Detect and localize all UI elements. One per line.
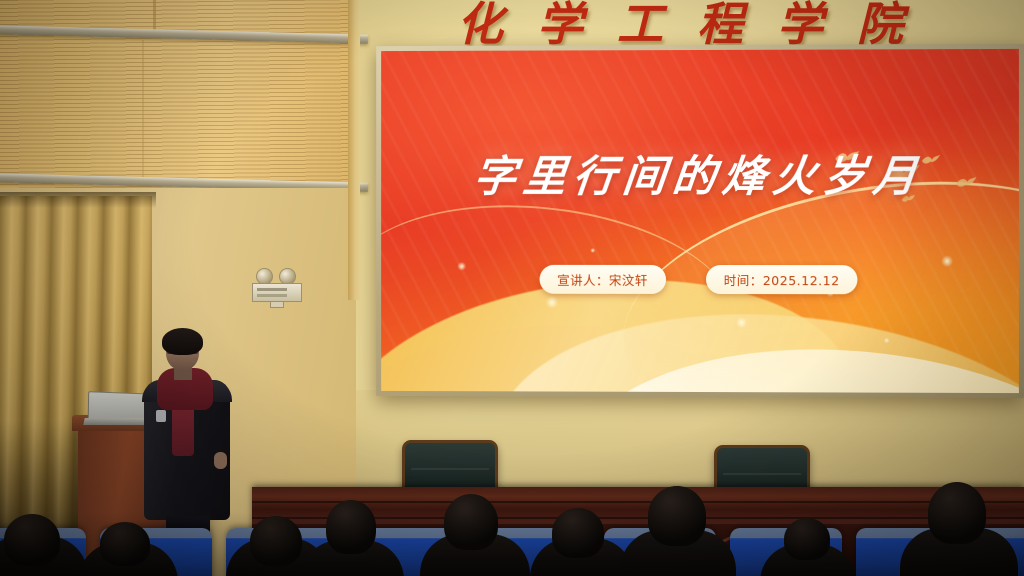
emergency-light-icon [252,268,304,302]
audience-head [444,494,498,550]
audience-head [326,500,376,554]
audience-head [784,518,830,560]
wall-corner-edge [348,0,360,300]
slide-badges: 宣讲人：宋汶轩 时间：2025.12.12 [381,265,1019,295]
audience-head [648,486,706,546]
glasses-icon [167,348,198,354]
slide-title: 字里行间的烽火岁月 [381,142,1019,205]
time-badge: 时间：2025.12.12 [706,265,858,294]
curtain-top-shadow [0,192,156,208]
lecture-hall-scene: 化学工程学院 [0,0,1024,576]
presenter-lapel-badge [156,410,166,422]
spark-particle [736,317,747,328]
emergency-light-body [252,283,302,302]
audience-head [100,522,150,566]
audience-head [552,508,604,558]
spark-particle [545,296,558,309]
audience-head [250,516,302,566]
front-audience-row [0,486,1024,576]
led-screen[interactable]: 字里行间的烽火岁月 宣讲人：宋汶轩 时间：2025.12.12 [381,49,1019,393]
led-screen-frame: 字里行间的烽火岁月 宣讲人：宋汶轩 时间：2025.12.12 [376,44,1024,398]
panel-seam-secondary [142,40,144,180]
speaker-badge: 宣讲人：宋汶轩 [539,265,665,294]
audience-head [928,482,986,544]
presenter-hand [214,452,227,469]
audience-head [4,514,60,566]
spark-particle [590,248,595,253]
emergency-light-mount [270,301,284,308]
